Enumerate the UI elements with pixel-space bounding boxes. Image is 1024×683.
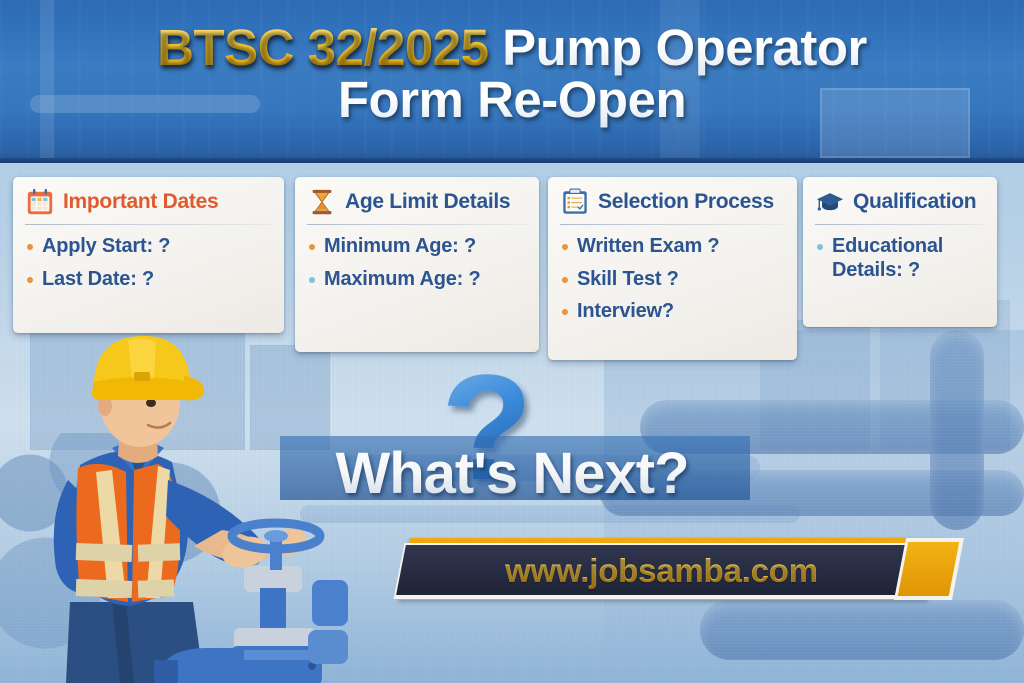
hourglass-icon bbox=[307, 187, 337, 217]
poster-canvas: BTSC 32/2025 Pump Operator Form Re-Open bbox=[0, 0, 1024, 683]
background-right-pipe-3 bbox=[700, 600, 1024, 660]
card-header: Qualification bbox=[815, 187, 985, 224]
website-banner[interactable]: www.jobsamba.com bbox=[0, 536, 1024, 608]
card-header: Important Dates bbox=[25, 187, 272, 224]
title-line-2: Form Re-Open bbox=[0, 74, 1024, 126]
card-title: Selection Process bbox=[598, 190, 774, 214]
card-important-dates[interactable]: Important Dates Apply Start: ? Last Date… bbox=[13, 177, 284, 333]
list-item: Interview? bbox=[560, 300, 785, 324]
title-post-name: Pump Operator bbox=[502, 19, 867, 76]
list-item: Skill Test ? bbox=[560, 268, 785, 292]
header-bottom-rule bbox=[0, 158, 1024, 163]
card-bullet-list: Written Exam ? Skill Test ? Interview? bbox=[560, 235, 785, 324]
card-qualification[interactable]: Qualification Educational Details: ? bbox=[803, 177, 997, 327]
card-divider bbox=[25, 224, 272, 225]
website-url[interactable]: www.jobsamba.com bbox=[401, 552, 922, 590]
graduation-cap-icon bbox=[815, 187, 845, 217]
card-title: Important Dates bbox=[63, 190, 218, 214]
list-item: Maximum Age: ? bbox=[307, 268, 527, 292]
calendar-icon bbox=[25, 187, 55, 217]
list-item: Written Exam ? bbox=[560, 235, 785, 259]
card-title: Age Limit Details bbox=[345, 190, 510, 214]
card-divider bbox=[815, 224, 985, 225]
list-item: Last Date: ? bbox=[25, 268, 272, 292]
card-bullet-list: Educational Details: ? bbox=[815, 235, 985, 282]
page-title: BTSC 32/2025 Pump Operator Form Re-Open bbox=[0, 22, 1024, 126]
clipboard-checklist-icon bbox=[560, 187, 590, 217]
card-bullet-list: Minimum Age: ? Maximum Age: ? bbox=[307, 235, 527, 291]
card-selection-process[interactable]: Selection Process Written Exam ? Skill T… bbox=[548, 177, 797, 360]
whats-next-headline: What's Next? bbox=[0, 440, 1024, 507]
title-subtitle: Form Re-Open bbox=[338, 71, 686, 128]
card-bullet-list: Apply Start: ? Last Date: ? bbox=[25, 235, 272, 291]
card-divider bbox=[307, 224, 527, 225]
card-title: Qualification bbox=[853, 190, 976, 214]
card-header: Selection Process bbox=[560, 187, 785, 224]
card-header: Age Limit Details bbox=[307, 187, 527, 224]
title-line-1: BTSC 32/2025 Pump Operator bbox=[0, 22, 1024, 74]
list-item: Apply Start: ? bbox=[25, 235, 272, 259]
card-divider bbox=[560, 224, 785, 225]
list-item: Educational Details: ? bbox=[815, 235, 985, 282]
list-item: Minimum Age: ? bbox=[307, 235, 527, 259]
card-age-limit-details[interactable]: Age Limit Details Minimum Age: ? Maximum… bbox=[295, 177, 539, 352]
title-exam-code: BTSC 32/2025 bbox=[157, 19, 488, 76]
